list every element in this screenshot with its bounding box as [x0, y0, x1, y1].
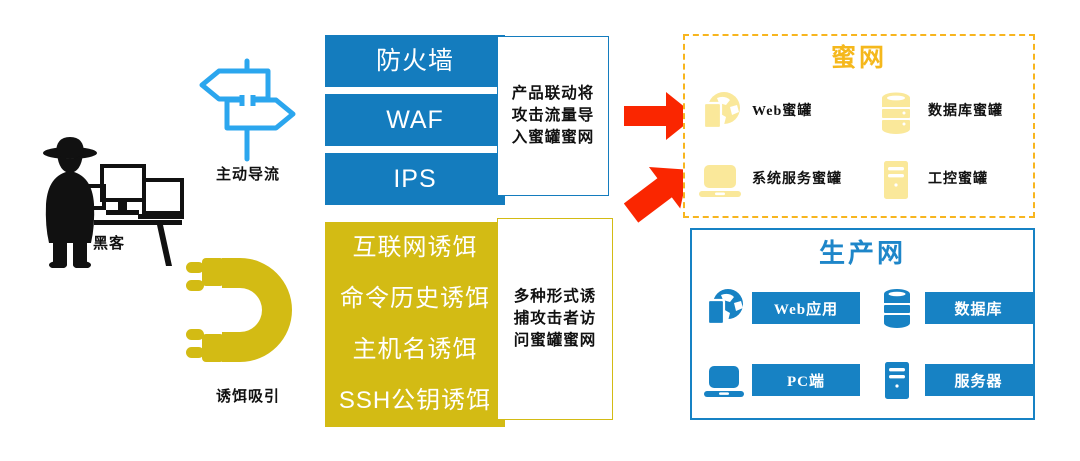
decoy-chip-internet[interactable]: 互联网诱饵	[325, 222, 505, 274]
bait-attraction-label: 诱饵吸引	[176, 385, 320, 406]
honeynet-title: 蜜网	[683, 38, 1035, 74]
globe-server-icon	[702, 286, 746, 330]
honeynet-item-web[interactable]: Web蜜罐	[683, 78, 859, 146]
production-item-web-app[interactable]: Web应用	[690, 272, 863, 344]
database-icon	[873, 89, 919, 135]
honeynet-grid: Web蜜罐	[683, 78, 1035, 214]
product-chip-waf[interactable]: WAF	[325, 94, 505, 146]
decoy-chip-ssh-key[interactable]: SSH公钥诱饵	[325, 375, 505, 427]
honeynet-item-label: 数据库蜜罐	[928, 103, 1003, 121]
production-item-label: 数据库	[925, 292, 1033, 324]
production-item-label: 服务器	[925, 364, 1033, 396]
honeynet-item-database[interactable]: 数据库蜜罐	[859, 78, 1035, 146]
decoy-chip-hostname[interactable]: 主机名诱饵	[325, 324, 505, 376]
honeynet-item-system-service[interactable]: 系统服务蜜罐	[683, 146, 859, 214]
server-tower-icon	[875, 358, 919, 402]
production-network-title: 生产网	[690, 233, 1035, 270]
decoy-capture-note: 多种形式诱捕攻击者访问蜜罐蜜网	[497, 218, 613, 420]
production-network-grid: Web应用 数据库	[690, 272, 1035, 416]
server-tower-icon	[873, 157, 919, 203]
product-linkage-note-text: 产品联动将攻击流量导入蜜罐蜜网	[504, 83, 602, 149]
honeynet-item-label: 工控蜜罐	[928, 171, 988, 189]
database-icon	[875, 286, 919, 330]
laptop-icon	[697, 157, 743, 203]
product-linkage-note: 产品联动将攻击流量导入蜜罐蜜网	[497, 36, 609, 196]
decoy-capture-note-text: 多种形式诱捕攻击者访问蜜罐蜜网	[506, 286, 604, 352]
active-diversion-label: 主动导流	[176, 163, 320, 184]
production-item-label: PC端	[752, 364, 860, 396]
laptop-icon	[702, 358, 746, 402]
product-chip-ips[interactable]: IPS	[325, 153, 505, 205]
production-item-label: Web应用	[752, 292, 860, 324]
production-item-database[interactable]: 数据库	[863, 272, 1036, 344]
production-item-pc[interactable]: PC端	[690, 344, 863, 416]
globe-server-icon	[697, 89, 743, 135]
diagram-canvas: 黑客 主动导流	[0, 0, 1080, 461]
production-item-server[interactable]: 服务器	[863, 344, 1036, 416]
honeynet-item-label: 系统服务蜜罐	[752, 171, 842, 189]
decoy-chip-command-history[interactable]: 命令历史诱饵	[325, 273, 505, 325]
signpost-icon	[186, 55, 310, 165]
honeynet-item-label: Web蜜罐	[752, 103, 812, 121]
honeynet-item-ics[interactable]: 工控蜜罐	[859, 146, 1035, 214]
hacker-label: 黑客	[34, 232, 184, 253]
magnet-icon	[186, 252, 308, 374]
product-chip-firewall[interactable]: 防火墙	[325, 35, 505, 87]
